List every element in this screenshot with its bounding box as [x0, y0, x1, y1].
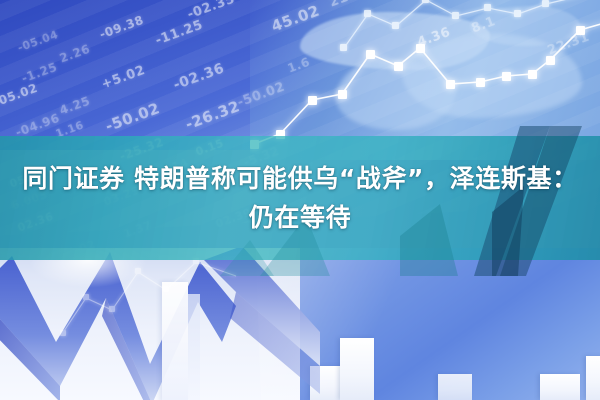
headline-band: 同门证券 特朗普称可能供乌“战斧”，泽连斯基： 仍在等待 [0, 136, 600, 260]
bar [586, 356, 600, 400]
bar [438, 374, 472, 400]
bar [340, 338, 374, 400]
line-series-lower [250, 22, 600, 149]
line-series-upper [340, 0, 580, 51]
glowing-line-chart [250, 0, 600, 154]
headline-line-2: 仍在等待 [8, 198, 592, 237]
news-banner-image: -05.02 -02.35 21.8 45.02 4.36 -09.38 -11… [0, 0, 600, 400]
bar [540, 374, 580, 400]
bar-chart-panel [300, 248, 600, 400]
headline-text: 同门证券 特朗普称可能供乌“战斧”，泽连斯基： 仍在等待 [0, 159, 600, 237]
glowing-line-chart-secondary [60, 250, 240, 340]
headline-line-1: 同门证券 特朗普称可能供乌“战斧”，泽连斯基： [8, 159, 592, 198]
